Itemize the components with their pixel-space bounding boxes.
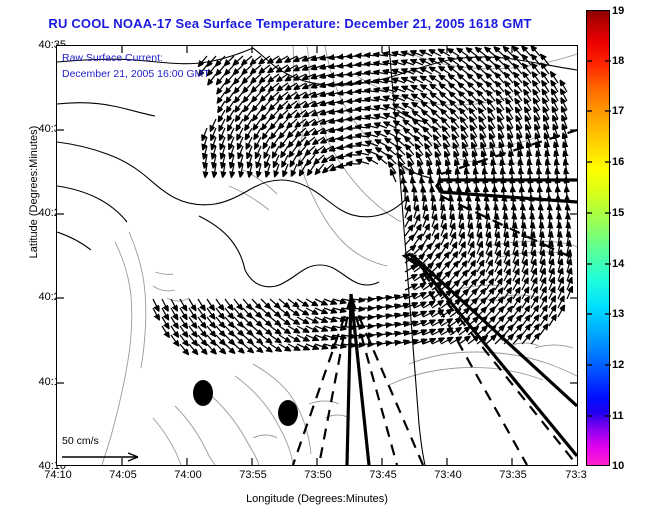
coastline [57,46,577,465]
colorbar-tick-label: 14 [612,258,624,270]
figure-canvas: RU COOL NOAA-17 Sea Surface Temperature:… [0,0,651,519]
plot-annotation-line2: December 21, 2005 16:00 GMT [62,68,210,80]
colorbar-tick-label: 15 [612,207,624,219]
colorbar-tick-label: 16 [612,156,624,168]
bathymetry-contours [102,46,577,465]
x-axis-label: Longitude (Degrees:Minutes) [56,493,578,505]
colorbar-tick-label: 11 [612,410,624,422]
x-tick-label: 74:10 [44,469,72,481]
current-vector-field [153,46,572,354]
colorbar-tick-label: 18 [612,55,624,67]
vector-scale-label: 50 cm/s [62,435,99,447]
colorbar-tick-label: 17 [612,105,624,117]
colorbar [586,10,610,466]
axis-ticks [57,46,577,465]
colorbar-tick-label: 19 [612,5,624,17]
x-tick-label: 73:35 [499,469,527,481]
x-tick-label: 73:50 [304,469,332,481]
colorbar-tick-label: 12 [612,359,624,371]
vector-scale-arrow [60,450,150,464]
x-tick-label: 73:3 [565,469,586,481]
radar-station-marker[interactable] [193,380,213,406]
x-tick-label: 74:05 [109,469,137,481]
radar-station-marker[interactable] [278,400,298,426]
map-svg [57,46,577,465]
x-tick-label: 73:55 [239,469,267,481]
colorbar-tick-label: 13 [612,308,624,320]
colorbar-tick-label: 10 [612,460,624,472]
x-tick-label: 73:40 [434,469,462,481]
y-axis-label: Latitude (Degrees:Minutes) [28,62,40,322]
plot-annotation-line1: Raw Surface Current: [62,52,163,64]
figure-title: RU COOL NOAA-17 Sea Surface Temperature:… [0,16,580,31]
x-tick-label: 74:00 [174,469,202,481]
x-tick-label: 73:45 [369,469,397,481]
map-plot-area[interactable] [56,45,578,466]
